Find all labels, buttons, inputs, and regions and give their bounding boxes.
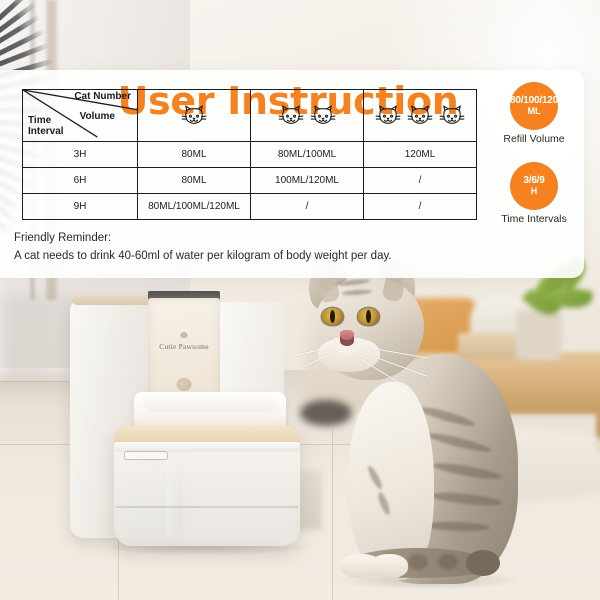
- table-column-header-3-cats: [364, 90, 477, 142]
- table-cell: 80ML: [138, 142, 251, 168]
- brand-mark-icon: [181, 332, 188, 338]
- cat-eye-left: [322, 308, 343, 325]
- cat-tail-tip: [466, 550, 500, 576]
- table-cell: 120ML: [364, 142, 477, 168]
- water-fountain-product: Cutie Pawsome: [62, 288, 312, 553]
- time-intervals-label: Time Intervals: [486, 213, 582, 225]
- table-cell: 80ML/100ML: [251, 142, 364, 168]
- cat-paw-right: [370, 554, 408, 578]
- spec-table-wrapper: Cat NumberVolumeTimeInterval3H80ML80ML/1…: [22, 89, 477, 220]
- cat-face-icon: [278, 104, 304, 127]
- base-handle: [124, 451, 168, 460]
- cat-face-icon: [439, 104, 465, 127]
- time-intervals-badge-group: 3/6/9 H Time Intervals: [486, 162, 582, 225]
- table-row: 6H80ML100ML/120ML/: [23, 168, 477, 194]
- table-cell: 80ML: [138, 168, 251, 194]
- corner-label-cat-number: Cat Number: [74, 92, 131, 103]
- table-row: 3H80ML80ML/100ML120ML: [23, 142, 477, 168]
- table-cell: 80ML/100ML/120ML: [138, 194, 251, 220]
- table-row: 9H80ML/100ML/120ML//: [23, 194, 477, 220]
- time-intervals-badge: 3/6/9 H: [510, 162, 558, 210]
- friendly-reminder: Friendly Reminder: A cat needs to drink …: [14, 230, 514, 266]
- refill-volume-badge: 80/100/120 ML: [510, 82, 558, 130]
- table-cell: /: [364, 168, 477, 194]
- cat-face-icon: [407, 104, 433, 127]
- table-header-row: Cat NumberVolumeTimeInterval: [23, 90, 477, 142]
- refill-volume-value: 80/100/120: [510, 96, 558, 107]
- reminder-body: A cat needs to drink 40-60ml of water pe…: [14, 248, 514, 266]
- table-row-interval: 6H: [23, 168, 138, 194]
- refill-volume-badge-group: 80/100/120 ML Refill Volume: [486, 82, 582, 145]
- water-level-line: [116, 506, 298, 508]
- table-column-header-1-cats: [138, 90, 251, 142]
- instruction-panel: User Instruction User Instruction Cat Nu…: [0, 70, 584, 278]
- brand-label: Cutie Pawsome: [148, 342, 220, 351]
- cat-icon-group: [251, 104, 363, 127]
- table-cell: 100ML/120ML: [251, 168, 364, 194]
- paw-icon: [177, 378, 192, 391]
- corner-label-time-interval: TimeInterval: [28, 116, 64, 137]
- cat-face-icon: [310, 104, 336, 127]
- cat-photo: [300, 262, 562, 600]
- cat-icon-group: [138, 104, 250, 127]
- table-row-interval: 9H: [23, 194, 138, 220]
- table-column-header-2-cats: [251, 90, 364, 142]
- cat-icon-group: [364, 104, 476, 127]
- table-cell: /: [251, 194, 364, 220]
- table-corner-header: Cat NumberVolumeTimeInterval: [23, 90, 138, 142]
- table-row-interval: 3H: [23, 142, 138, 168]
- time-intervals-value: 3/6/9: [523, 176, 544, 187]
- reminder-heading: Friendly Reminder:: [14, 230, 514, 248]
- table-cell: /: [364, 194, 477, 220]
- corner-label-volume: Volume: [80, 112, 115, 123]
- refill-volume-label: Refill Volume: [486, 133, 582, 145]
- cat-face-icon: [375, 104, 401, 127]
- cat-face-icon: [181, 104, 207, 127]
- bowl-inner: [144, 396, 276, 412]
- cat-nose: [340, 330, 354, 340]
- time-intervals-unit: H: [531, 187, 538, 196]
- refill-volume-unit: ML: [528, 107, 541, 116]
- spec-table: Cat NumberVolumeTimeInterval3H80ML80ML/1…: [22, 89, 477, 220]
- cat-eye-right: [358, 308, 379, 325]
